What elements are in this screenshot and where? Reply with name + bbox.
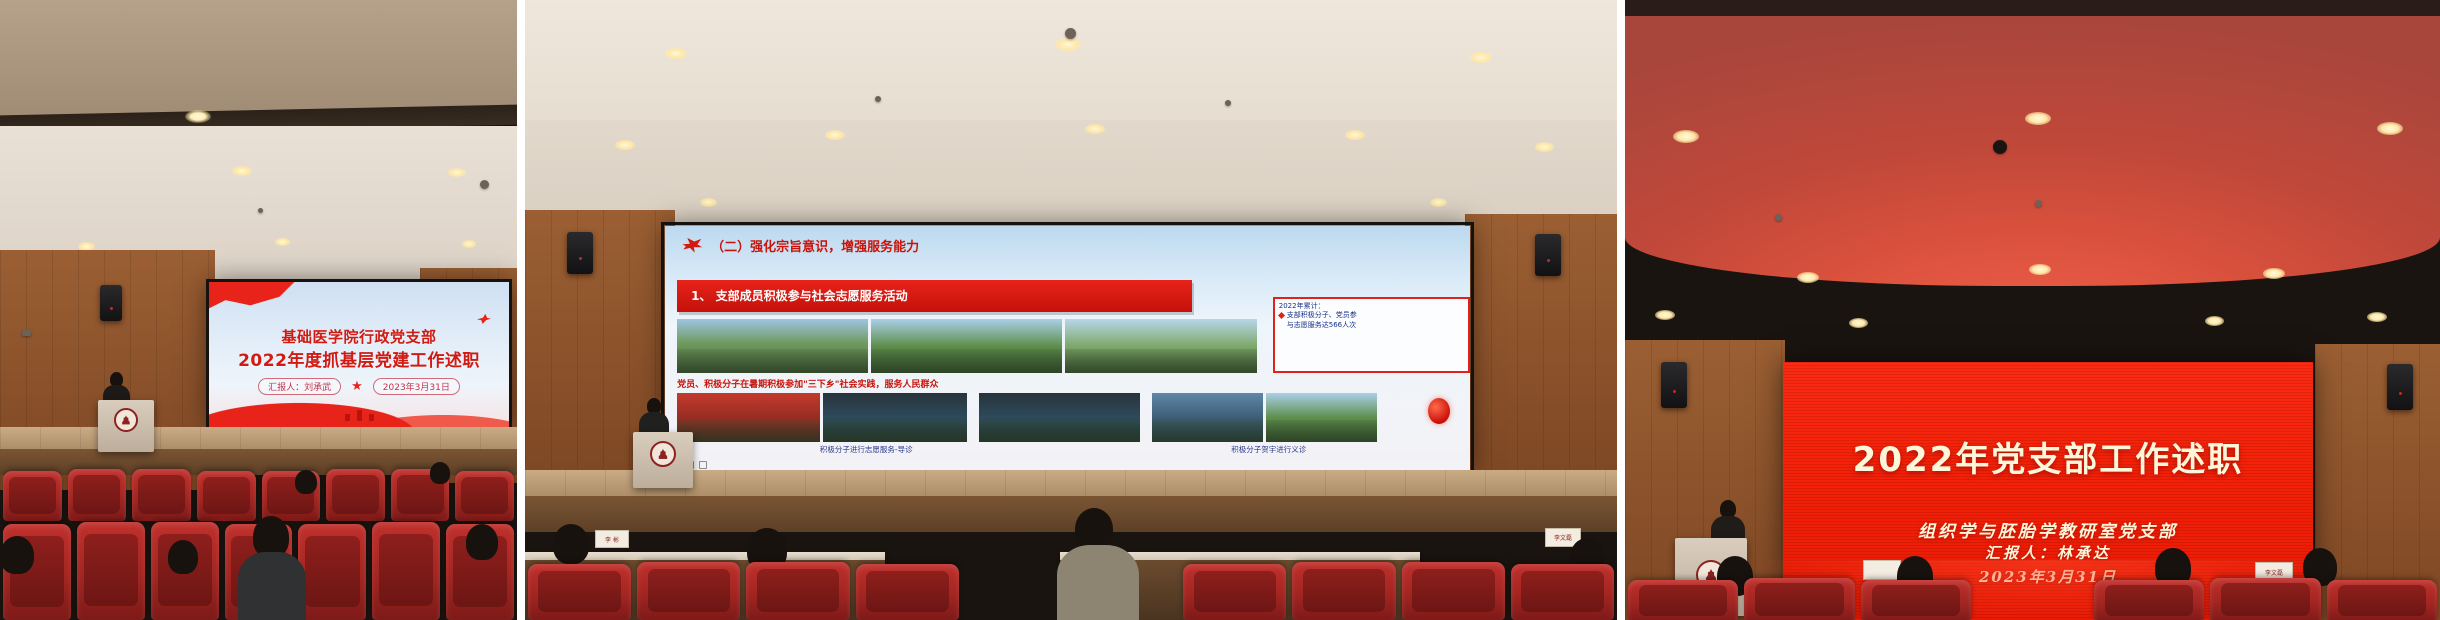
seat bbox=[1183, 564, 1286, 620]
attendee-head bbox=[0, 536, 34, 574]
name-placard: 李 彬 bbox=[595, 530, 629, 548]
ceiling-lamp bbox=[1849, 318, 1868, 328]
smoke-detector-icon bbox=[1225, 100, 1231, 106]
smoke-detector-icon bbox=[1775, 214, 1782, 221]
seat bbox=[1861, 580, 1971, 620]
ceiling-lamp bbox=[275, 238, 290, 246]
screen-frame bbox=[206, 279, 512, 430]
seat bbox=[1628, 580, 1738, 620]
seat bbox=[2210, 578, 2320, 620]
ceiling-lamp bbox=[2205, 316, 2224, 326]
seat bbox=[326, 469, 385, 521]
smoke-detector-icon bbox=[258, 208, 263, 213]
podium bbox=[98, 400, 154, 452]
panel-2: （二）强化宗旨意识，增强服务能力 1、 支部成员积极参与社会志愿服务活动 202… bbox=[525, 0, 1617, 620]
seat-row-front bbox=[1625, 578, 2440, 620]
ceiling-camera bbox=[1065, 28, 1076, 39]
ceiling-upper bbox=[0, 0, 517, 118]
slide-title-line: 2022年党支部工作述职 bbox=[1783, 432, 2313, 481]
seat bbox=[455, 471, 514, 521]
seat-row-front bbox=[525, 560, 1617, 620]
seat bbox=[2094, 580, 2204, 620]
ceiling-lamp bbox=[2029, 264, 2051, 275]
attendee-head bbox=[430, 462, 450, 484]
ceiling-lamp bbox=[185, 110, 211, 123]
seat bbox=[1511, 564, 1614, 620]
ceiling-lamp bbox=[1797, 272, 1819, 283]
seat bbox=[77, 522, 145, 620]
seat bbox=[1402, 562, 1505, 620]
seat bbox=[68, 469, 127, 521]
ceiling-lamp bbox=[1470, 52, 1492, 63]
panel-3: 2022年党支部工作述职 组织学与胚胎学教研室党支部 汇报人：林承达 2023年… bbox=[1625, 0, 2440, 620]
ceiling-lamp bbox=[462, 240, 476, 248]
ceiling-lamp bbox=[1535, 142, 1554, 152]
stage-front bbox=[525, 496, 1617, 532]
ceiling-lamp bbox=[1673, 130, 1699, 143]
attendee-head bbox=[466, 524, 498, 560]
ceiling-lamp bbox=[1345, 130, 1365, 140]
seat bbox=[197, 471, 256, 521]
seat bbox=[2327, 580, 2437, 620]
seat bbox=[372, 522, 440, 620]
ceiling-lamp bbox=[232, 166, 252, 176]
panel-1: 基础医学院行政党支部 2022年度抓基层党建工作述职 汇报人：刘承武 ★ 202… bbox=[0, 0, 517, 620]
seat bbox=[746, 562, 849, 620]
wall-speaker bbox=[100, 285, 122, 321]
ceiling-lamp bbox=[665, 48, 687, 59]
ceiling-lamp bbox=[700, 198, 717, 207]
ceiling-lamp bbox=[615, 140, 635, 150]
seat bbox=[637, 562, 740, 620]
placard-name: 李文磊 bbox=[1554, 533, 1572, 542]
photo-strip: 基础医学院行政党支部 2022年度抓基层党建工作述职 汇报人：刘承武 ★ 202… bbox=[0, 0, 2440, 620]
wall-speaker-right bbox=[1535, 234, 1561, 276]
ceiling-red-glow bbox=[1625, 16, 2440, 286]
wall-speaker-left bbox=[567, 232, 593, 274]
ceiling-lamp bbox=[1430, 198, 1447, 207]
attendee-head bbox=[553, 524, 589, 564]
seat bbox=[132, 469, 191, 521]
ceiling-lamp bbox=[2263, 268, 2285, 279]
seat bbox=[1292, 562, 1395, 620]
smoke-detector-icon bbox=[875, 96, 881, 102]
university-emblem-icon bbox=[650, 441, 676, 467]
placard-name: 李 彬 bbox=[605, 535, 619, 544]
ceiling-lamp bbox=[2377, 122, 2403, 135]
ceiling-lamp bbox=[2025, 112, 2051, 125]
seat bbox=[528, 564, 631, 620]
attendee-head bbox=[1075, 508, 1113, 550]
ceiling-upper bbox=[525, 0, 1617, 130]
wall-speaker-right bbox=[2387, 364, 2413, 410]
placard-name: 李文磊 bbox=[2265, 568, 2283, 577]
ceiling-camera bbox=[1993, 140, 2007, 154]
ceiling-lamp bbox=[1055, 38, 1081, 51]
ceiling-lamp bbox=[1085, 124, 1105, 134]
wall-speaker-left bbox=[1661, 362, 1687, 408]
smoke-detector-icon bbox=[2035, 200, 2042, 207]
ceiling-lamp bbox=[448, 168, 466, 177]
name-placard bbox=[1863, 560, 1901, 580]
seat bbox=[1744, 578, 1854, 620]
university-emblem-icon bbox=[114, 408, 138, 432]
slide-org-line: 组织学与胚胎学教研室党支部 bbox=[1783, 517, 2313, 542]
ceiling-lamp bbox=[1655, 310, 1675, 320]
attendee-head bbox=[295, 470, 317, 494]
ceiling-lamp bbox=[2367, 312, 2387, 322]
podium bbox=[633, 432, 693, 488]
ceiling-camera bbox=[480, 180, 489, 189]
seat bbox=[298, 524, 366, 620]
seat bbox=[3, 471, 62, 521]
attendee-body bbox=[238, 552, 306, 620]
ceiling-lamp bbox=[825, 130, 845, 140]
security-camera-icon bbox=[22, 330, 31, 336]
screen-frame bbox=[661, 222, 1474, 475]
attendee-head bbox=[168, 540, 198, 574]
seat bbox=[856, 564, 959, 620]
